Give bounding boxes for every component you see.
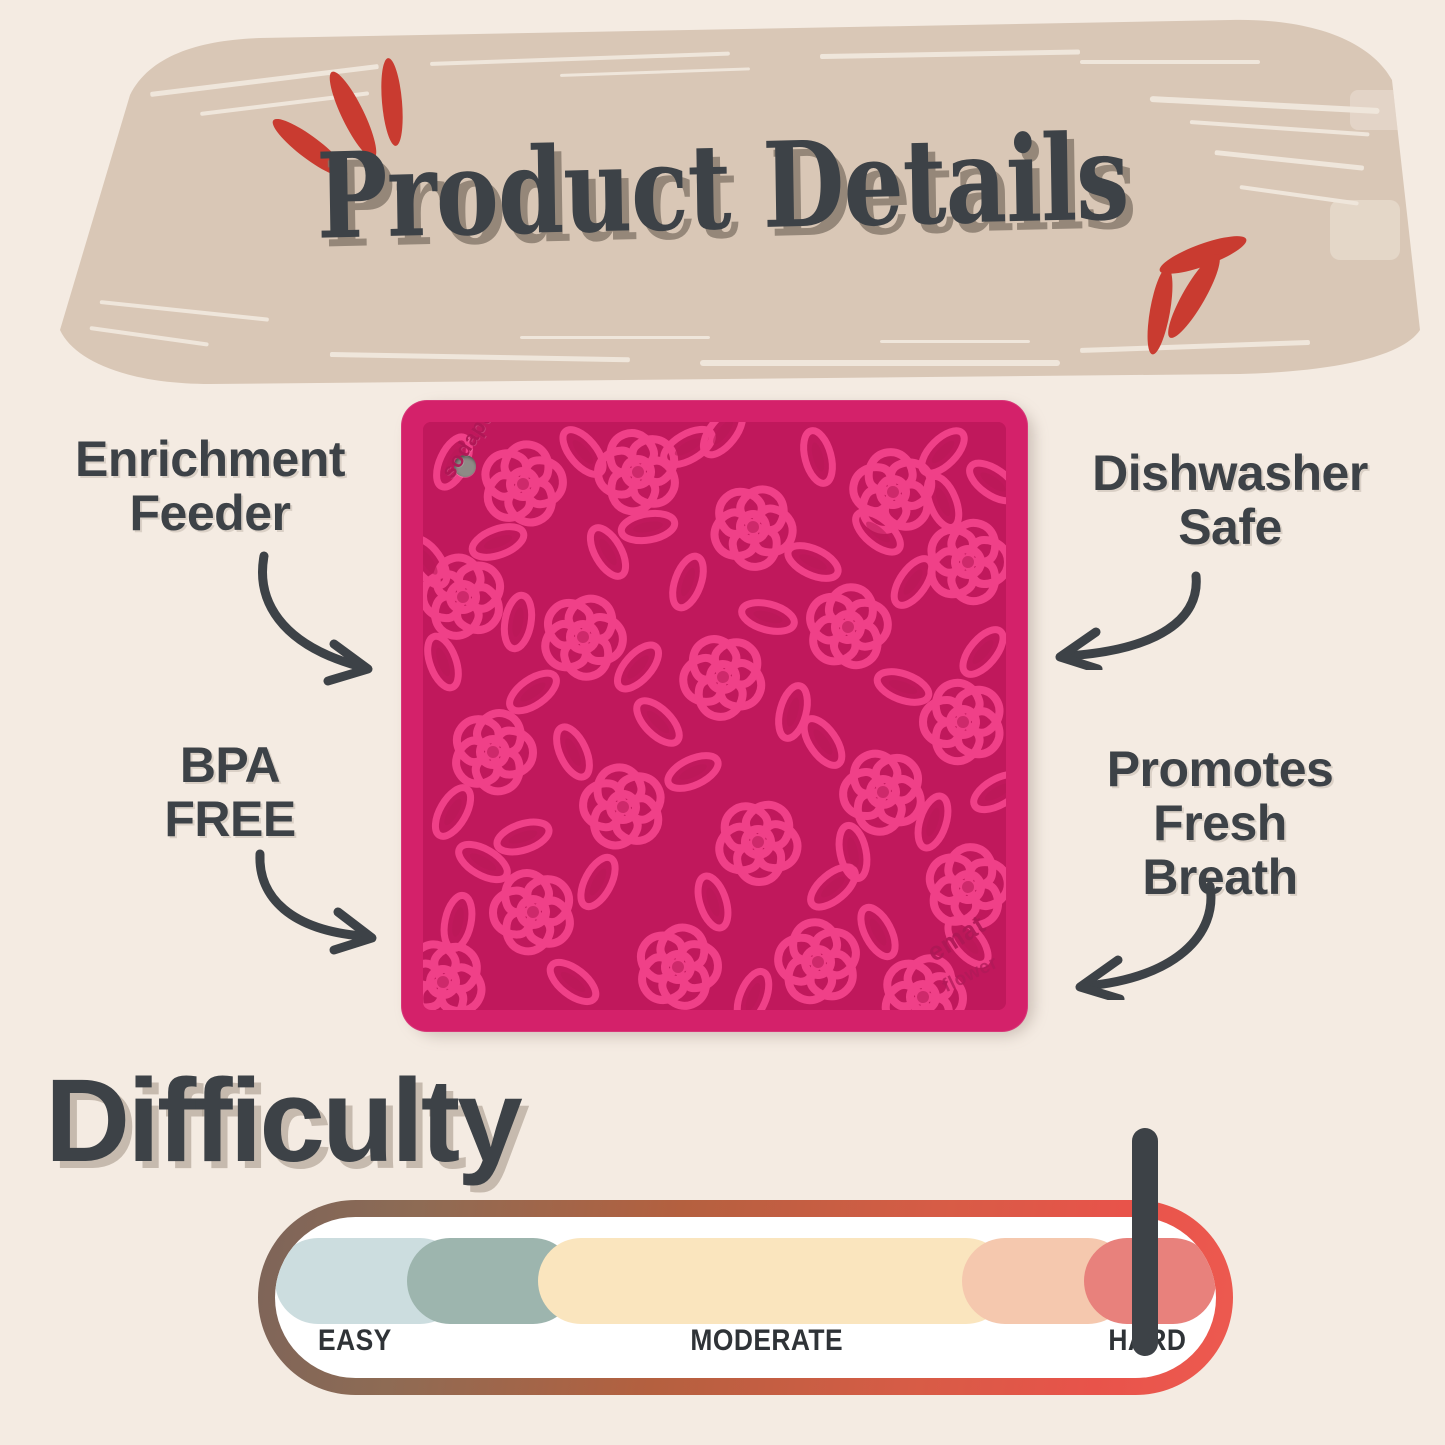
feature-line: Fresh xyxy=(1050,796,1390,850)
difficulty-indicator-bar[interactable] xyxy=(1132,1128,1158,1356)
feature-line: Enrichment xyxy=(10,432,410,486)
feature-label-bpa-free: BPA FREE xyxy=(80,738,380,846)
difficulty-heading: Difficulty xyxy=(45,1062,520,1180)
arrow-icon-bpa xyxy=(250,848,410,958)
feature-line: Dishwasher xyxy=(1030,446,1430,500)
difficulty-meter: EASYMODERATEHARD xyxy=(258,1200,1233,1395)
feature-line: FREE xyxy=(80,792,380,846)
product-details-infographic: Product Details xyxy=(0,0,1445,1445)
feature-label-dishwasher-safe: Dishwasher Safe xyxy=(1030,446,1430,554)
page-title: Product Details xyxy=(144,114,1302,260)
arrow-icon-dishwasher xyxy=(1040,570,1210,670)
arrow-icon-enrichment xyxy=(250,548,410,688)
accent-stroke-right-3 xyxy=(1143,266,1178,356)
feature-line: Breath xyxy=(1050,850,1390,904)
difficulty-meter-track: EASYMODERATEHARD xyxy=(275,1217,1216,1378)
scale-label-moderate: MODERATE xyxy=(690,1324,843,1358)
feature-line: Safe xyxy=(1030,500,1430,554)
difficulty-scale-labels: EASYMODERATEHARD xyxy=(275,1324,1216,1364)
feature-line: Feeder xyxy=(10,486,410,540)
mat-textured-surface: sodapup emat flower xyxy=(423,422,1006,1010)
difficulty-segment-moderate xyxy=(538,1238,1009,1324)
feature-label-enrichment-feeder: Enrichment Feeder xyxy=(10,432,410,540)
feature-line: Promotes xyxy=(1050,742,1390,796)
feature-line: BPA xyxy=(80,738,380,792)
product-image-lick-mat: sodapup emat flower xyxy=(401,400,1028,1032)
scale-label-easy: EASY xyxy=(318,1324,392,1358)
mat-flower-pattern xyxy=(423,422,1006,1010)
feature-label-promotes-fresh-breath: Promotes Fresh Breath xyxy=(1050,742,1390,904)
